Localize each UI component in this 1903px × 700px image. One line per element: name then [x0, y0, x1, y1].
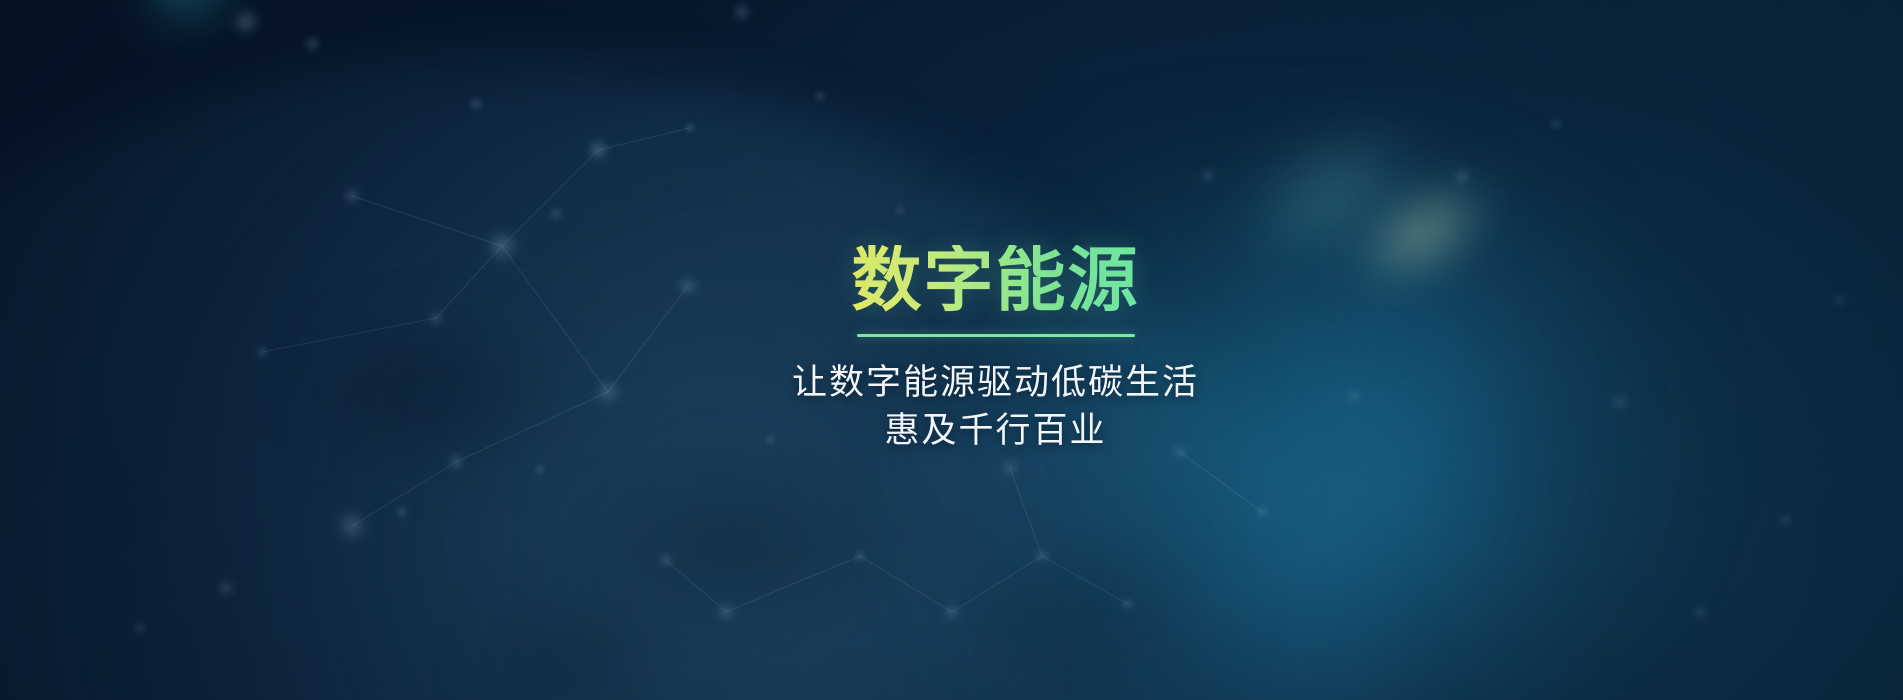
title-divider	[857, 334, 1135, 337]
hero-banner: 数字能源 让数字能源驱动低碳生活 惠及千行百业	[0, 0, 1903, 700]
hero-subtitle-line-1: 让数字能源驱动低碳生活	[792, 359, 1199, 407]
hero-subtitle: 让数字能源驱动低碳生活 惠及千行百业	[792, 359, 1199, 456]
hero-content: 数字能源 让数字能源驱动低碳生活 惠及千行百业	[0, 0, 1903, 700]
page-title: 数字能源	[852, 245, 1140, 316]
hero-subtitle-line-2: 惠及千行百业	[792, 407, 1199, 455]
